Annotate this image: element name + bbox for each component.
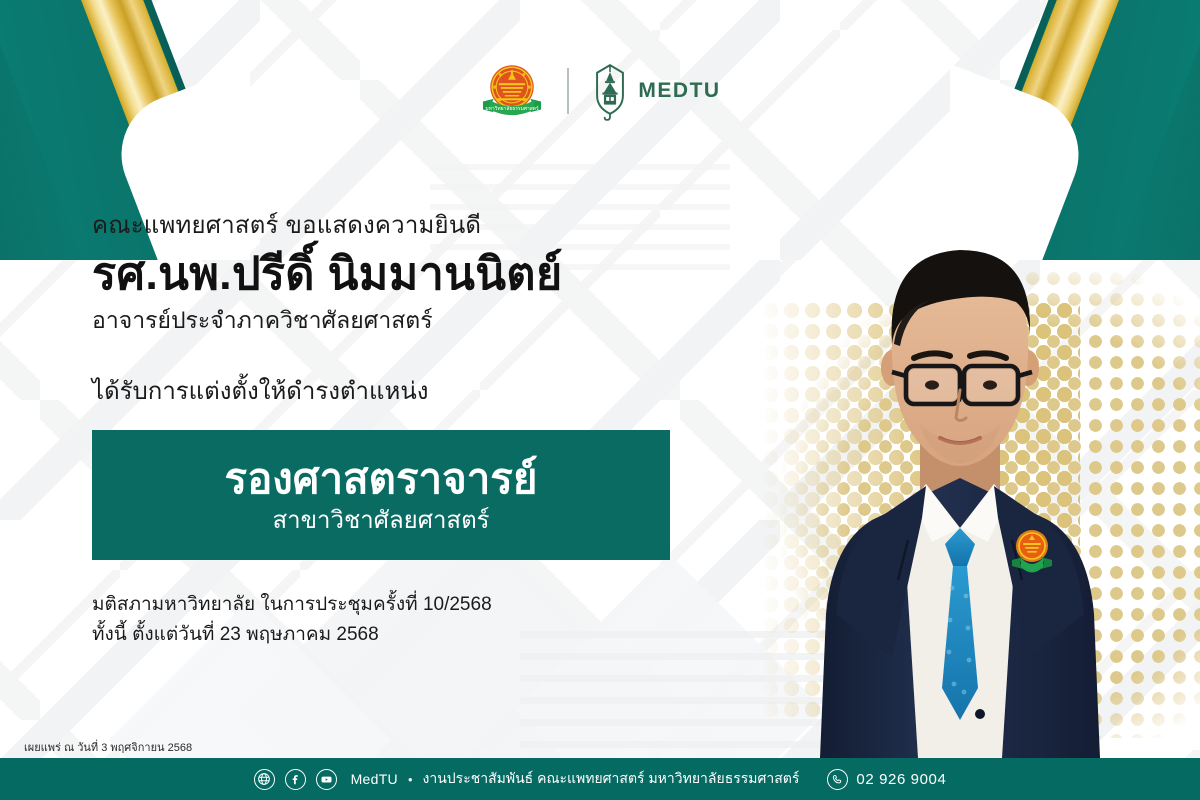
congratulations-line: คณะแพทยศาสตร์ ขอแสดงความยินดี bbox=[92, 210, 732, 242]
announcement-content: คณะแพทยศาสตร์ ขอแสดงความยินดี รศ.นพ.ปรีด… bbox=[92, 210, 732, 649]
resolution-line-1: มติสภามหาวิทยาลัย ในการประชุมครั้งที่ 10… bbox=[92, 590, 732, 619]
corner-ribbon-right bbox=[950, 0, 1200, 260]
resolution-line-2: ทั้งนี้ ตั้งแต่วันที่ 23 พฤษภาคม 2568 bbox=[92, 620, 732, 649]
new-title-text: รองศาสตราจารย์ bbox=[225, 455, 538, 503]
portrait-photo bbox=[780, 228, 1140, 758]
footer-bar: MedTU • งานประชาสัมพันธ์ คณะแพทยศาสตร์ ม… bbox=[0, 758, 1200, 800]
footer-phone-number: 02 926 9004 bbox=[856, 771, 946, 788]
person-role: อาจารย์ประจำภาควิชาศัลยศาสตร์ bbox=[92, 305, 732, 336]
new-title-field: สาขาวิชาศัลยศาสตร์ bbox=[272, 507, 489, 536]
medtu-logo: MEDTU bbox=[591, 60, 720, 122]
header-logo-row: มหาวิทยาลัยธรรมศาสตร์ bbox=[0, 58, 1200, 124]
new-title-banner: รองศาสตราจารย์ สาขาวิชาศัลยศาสตร์ bbox=[92, 430, 670, 560]
medtu-wordmark: MEDTU bbox=[638, 79, 720, 103]
medtu-pagoda-icon bbox=[591, 60, 629, 122]
logo-divider bbox=[567, 68, 569, 114]
footer-separator: • bbox=[408, 772, 413, 787]
resolution-details: มติสภามหาวิทยาลัย ในการประชุมครั้งที่ 10… bbox=[92, 590, 732, 649]
phone-icon bbox=[827, 769, 848, 790]
youtube-icon[interactable] bbox=[316, 769, 337, 790]
facebook-icon[interactable] bbox=[285, 769, 306, 790]
congratulation-poster: มหาวิทยาลัยธรรมศาสตร์ bbox=[0, 0, 1200, 800]
footer-organization: งานประชาสัมพันธ์ คณะแพทยศาสตร์ มหาวิทยาล… bbox=[423, 768, 800, 790]
thammasat-university-seal-icon: มหาวิทยาลัยธรรมศาสตร์ bbox=[479, 58, 545, 124]
footer-brand: MedTU bbox=[351, 771, 398, 787]
globe-icon[interactable] bbox=[254, 769, 275, 790]
appointed-label: ได้รับการแต่งตั้งให้ดำรงตำแหน่ง bbox=[92, 376, 732, 408]
person-name: รศ.นพ.ปรีดิ์ นิมมานนิตย์ bbox=[92, 246, 732, 302]
footer-phone-group[interactable]: 02 926 9004 bbox=[827, 769, 946, 790]
publish-date-note: เผยแพร่ ณ วันที่ 3 พฤศจิกายน 2568 bbox=[24, 738, 192, 756]
